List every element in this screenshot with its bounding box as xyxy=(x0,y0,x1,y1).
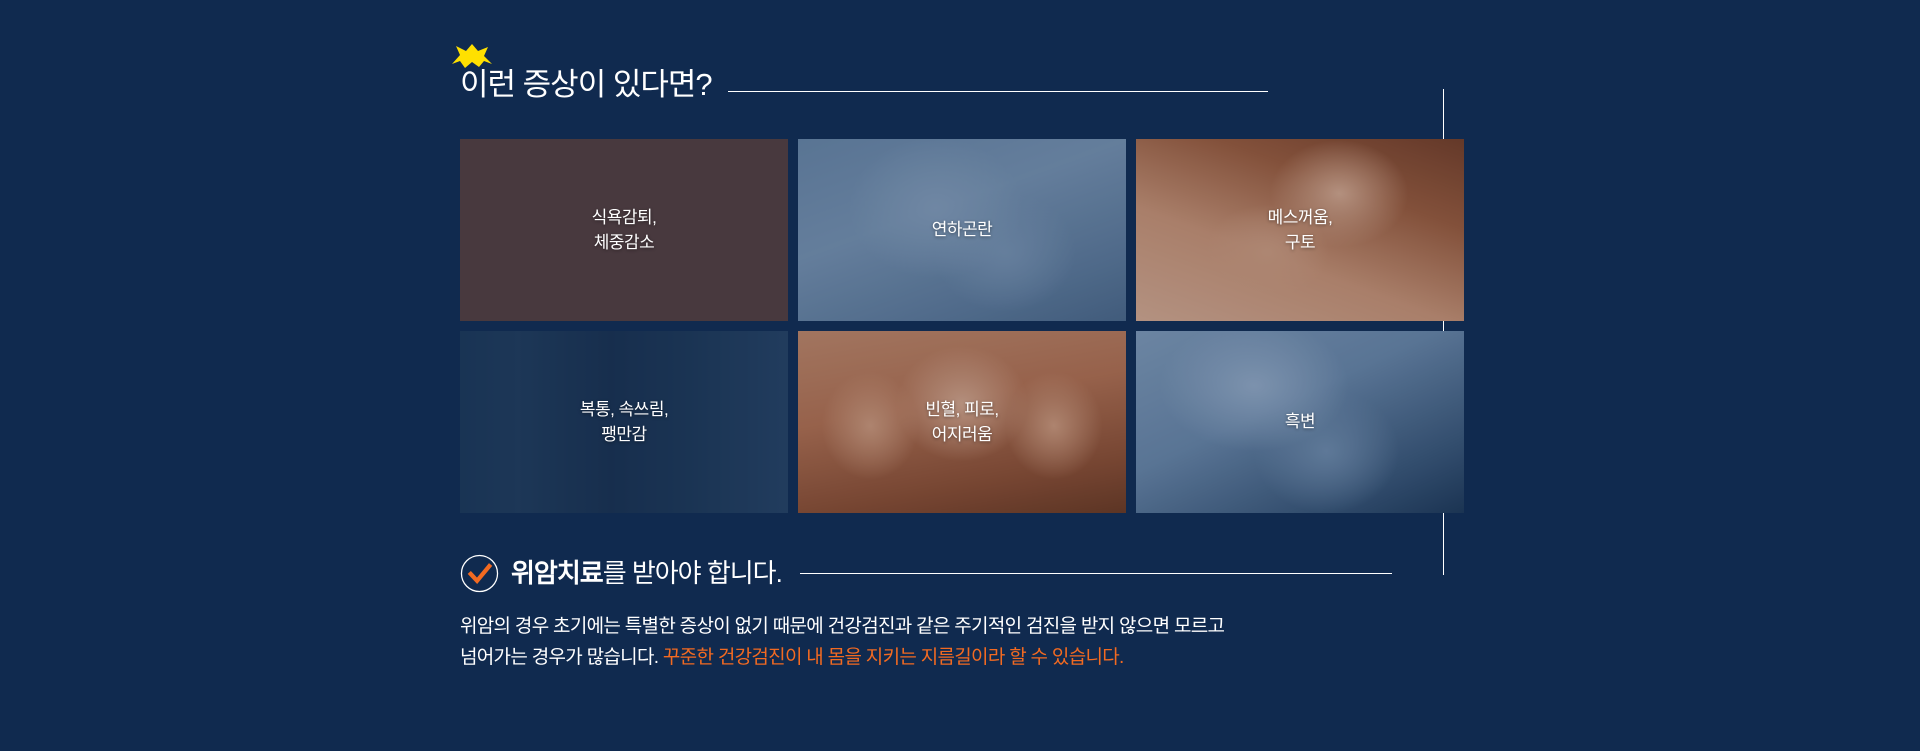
conclusion-rule xyxy=(800,573,1392,574)
symptom-grid: 식욕감퇴, 체중감소 연하곤란 메스꺼움, 구토 복통, 속쓰림, 팽만감 빈혈… xyxy=(460,139,1464,517)
symptom-card-abdominal-pain[interactable]: 복통, 속쓰림, 팽만감 xyxy=(460,331,788,513)
section-heading: 이런 증상이 있다면? xyxy=(460,58,1460,102)
symptom-card-dysphagia[interactable]: 연하곤란 xyxy=(798,139,1126,321)
symptom-card-appetite-loss[interactable]: 식욕감퇴, 체중감소 xyxy=(460,139,788,321)
symptom-card-melena[interactable]: 흑변 xyxy=(1136,331,1464,513)
conclusion-heading-rest: 를 받아야 합니다. xyxy=(603,558,782,588)
body-line-2-accent: 꾸준한 건강검진이 내 몸을 지키는 지름길이라 할 수 있습니다. xyxy=(663,647,1124,668)
symptom-card-label: 메스꺼움, 구토 xyxy=(1268,205,1333,256)
heading-rule xyxy=(728,91,1268,92)
conclusion-heading: 위암치료를 받아야 합니다. xyxy=(460,553,1460,593)
body-line-2-plain: 넘어가는 경우가 많습니다. xyxy=(460,647,663,668)
conclusion-heading-text: 위암치료를 받아야 합니다. xyxy=(511,560,782,586)
conclusion-keyword: 위암치료 xyxy=(511,558,603,588)
symptom-card-label: 식욕감퇴, 체중감소 xyxy=(592,205,657,256)
promo-panel: 이런 증상이 있다면? 식욕감퇴, 체중감소 연하곤란 메스꺼움, 구토 복통,… xyxy=(0,0,1920,751)
section-heading-text: 이런 증상이 있다면? xyxy=(460,69,712,102)
conclusion-body: 위암의 경우 초기에는 특별한 증상이 없기 때문에 건강검진과 같은 주기적인… xyxy=(460,612,1480,674)
symptom-card-nausea-vomiting[interactable]: 메스꺼움, 구토 xyxy=(1136,139,1464,321)
body-line-1: 위암의 경우 초기에는 특별한 증상이 없기 때문에 건강검진과 같은 주기적인… xyxy=(460,616,1224,637)
symptom-card-label: 빈혈, 피로, 어지러움 xyxy=(925,397,998,448)
check-circle-icon xyxy=(460,554,499,593)
symptom-card-label: 흑변 xyxy=(1285,409,1315,435)
symptom-card-anemia-fatigue[interactable]: 빈혈, 피로, 어지러움 xyxy=(798,331,1126,513)
symptom-card-label: 연하곤란 xyxy=(932,217,993,243)
symptom-card-label: 복통, 속쓰림, 팽만감 xyxy=(580,397,668,448)
